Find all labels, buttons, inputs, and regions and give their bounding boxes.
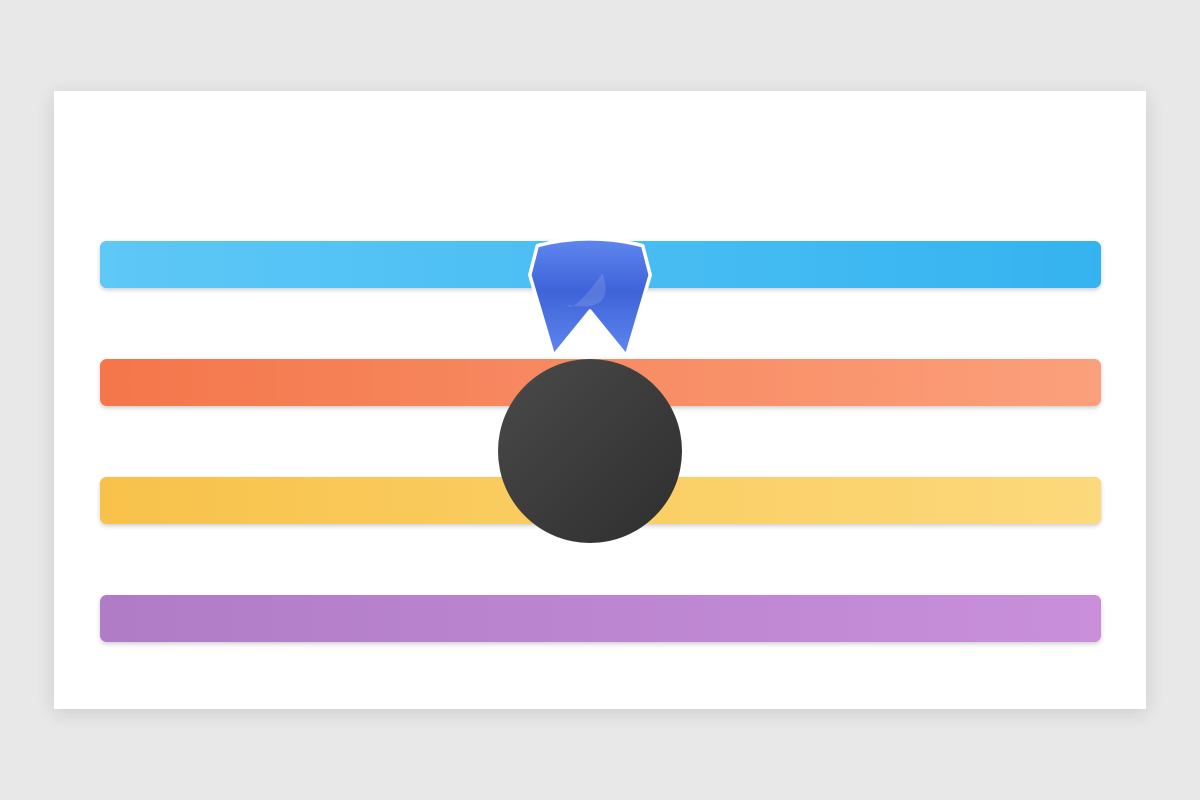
slide-canvas [54, 91, 1146, 709]
hub-circle [498, 359, 682, 543]
wheel-svg [360, 221, 820, 681]
marketing-wheel [360, 221, 820, 681]
